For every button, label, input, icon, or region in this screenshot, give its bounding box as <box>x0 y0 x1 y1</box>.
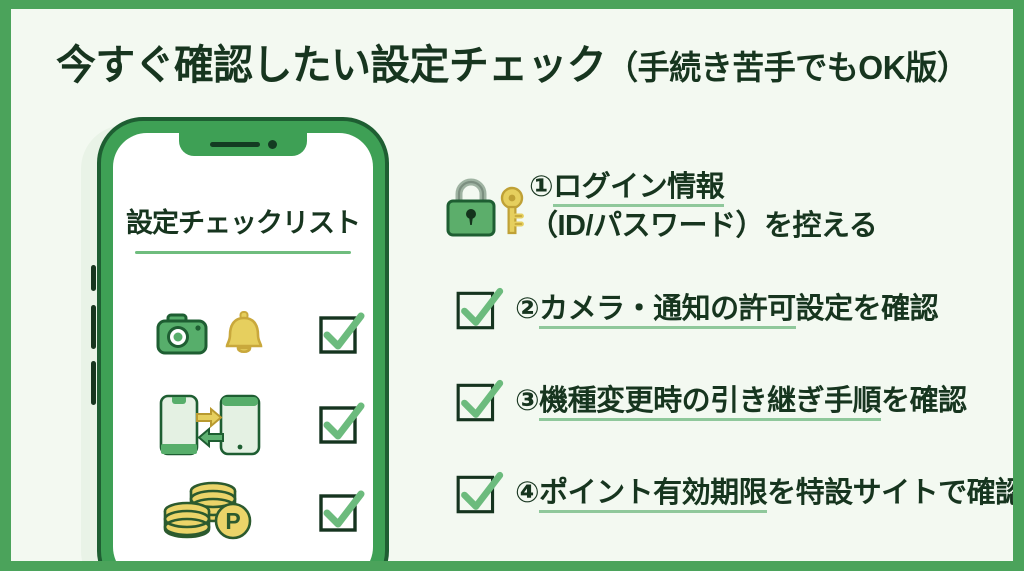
speaker-slot-icon <box>210 142 260 147</box>
item-4-tail: を特設サイトで確認 <box>767 477 1013 509</box>
checkbox-camera-notification[interactable] <box>309 310 373 358</box>
item-3-number: ③ <box>515 385 539 417</box>
item-2-underlined: カメラ・通知の許可 <box>539 293 796 329</box>
row-3-icons: P <box>113 477 309 547</box>
item-4-number: ④ <box>515 477 539 509</box>
checkbox-checked-icon[interactable] <box>454 377 504 427</box>
page-title-paren: （手続き苦手でもOK版） <box>606 49 968 86</box>
checklist-item-login-info[interactable]: ①ログイン情報 （ID/パスワード）を控える <box>443 159 1011 255</box>
checkbox-checked-icon <box>317 310 365 358</box>
checklist-row-camera-notification <box>113 291 373 377</box>
screen-title: 設定チェックリスト <box>113 201 373 240</box>
item-3-icon <box>443 377 515 427</box>
checkbox-device-transfer[interactable] <box>309 400 373 448</box>
item-1-icons <box>443 176 529 238</box>
checkbox-checked-icon[interactable] <box>454 285 504 335</box>
row-1-icons <box>113 311 309 357</box>
item-4-icon <box>443 469 515 519</box>
checklist-item-4-text: ④ポイント有効期限を特設サイトで確認 <box>515 473 1013 514</box>
checklist-item-3-text: ③機種変更時の引き継ぎ手順を確認 <box>515 381 967 422</box>
lock-key-icons <box>443 176 529 238</box>
checklist: ①ログイン情報 （ID/パスワード）を控える ②カメラ・通知の許可設定を確認 <box>443 159 1011 549</box>
page-title-main: 今すぐ確認したい設定チェック <box>56 42 606 88</box>
item-1-number: ① <box>529 171 553 203</box>
page-title: 今すぐ確認したい設定チェック（手続き苦手でもOK版） <box>11 31 1013 91</box>
checklist-item-2-text: ②カメラ・通知の許可設定を確認 <box>515 289 938 330</box>
item-1-line2: （ID/パスワード）を控える <box>529 207 877 246</box>
checklist-item-1-text: ①ログイン情報 （ID/パスワード）を控える <box>529 168 877 246</box>
page-title-text: 今すぐ確認したい設定チェック（手続き苦手でもOK版） <box>56 31 968 91</box>
checklist-item-device-transfer[interactable]: ③機種変更時の引き継ぎ手順を確認 <box>443 365 1011 439</box>
phone-body: 設定チェックリスト <box>97 117 389 561</box>
item-3-tail: を確認 <box>881 385 967 417</box>
checkbox-checked-icon <box>317 488 365 536</box>
item-1-line1: ログイン情報 <box>553 171 724 207</box>
point-coins-icon: P <box>161 477 261 547</box>
bell-icon <box>222 311 266 357</box>
phone-screen: 設定チェックリスト <box>113 133 373 561</box>
checklist-row-points: P <box>113 469 373 555</box>
checklist-row-device-transfer <box>113 381 373 467</box>
svg-text:P: P <box>225 508 240 534</box>
camera-icon <box>156 313 208 355</box>
item-4-underlined: ポイント有効期限 <box>539 477 767 513</box>
checkbox-checked-icon[interactable] <box>454 469 504 519</box>
slide-canvas: 今すぐ確認したい設定チェック（手続き苦手でもOK版） 設定チェックリスト <box>11 9 1013 561</box>
checkbox-checked-icon <box>317 400 365 448</box>
item-2-icon <box>443 285 515 335</box>
item-2-tail: 設定を確認 <box>796 293 939 325</box>
checklist-item-camera-notification[interactable]: ②カメラ・通知の許可設定を確認 <box>443 273 1011 347</box>
front-camera-icon <box>268 140 277 149</box>
screen-divider <box>135 251 351 254</box>
slide-frame: 今すぐ確認したい設定チェック（手続き苦手でもOK版） 設定チェックリスト <box>0 0 1024 571</box>
item-3-underlined: 機種変更時の引き継ぎ手順 <box>539 385 881 421</box>
phone-notch <box>179 133 307 156</box>
item-2-number: ② <box>515 293 539 325</box>
row-2-icons <box>113 392 309 456</box>
phone-transfer-icon <box>159 392 263 456</box>
phone-mockup: 設定チェックリスト <box>71 117 411 561</box>
checkbox-points[interactable] <box>309 488 373 536</box>
volume-up-button[interactable] <box>91 305 96 349</box>
volume-down-button[interactable] <box>91 361 96 405</box>
mute-switch[interactable] <box>91 265 96 291</box>
checklist-item-points[interactable]: ④ポイント有効期限を特設サイトで確認 <box>443 457 1011 531</box>
